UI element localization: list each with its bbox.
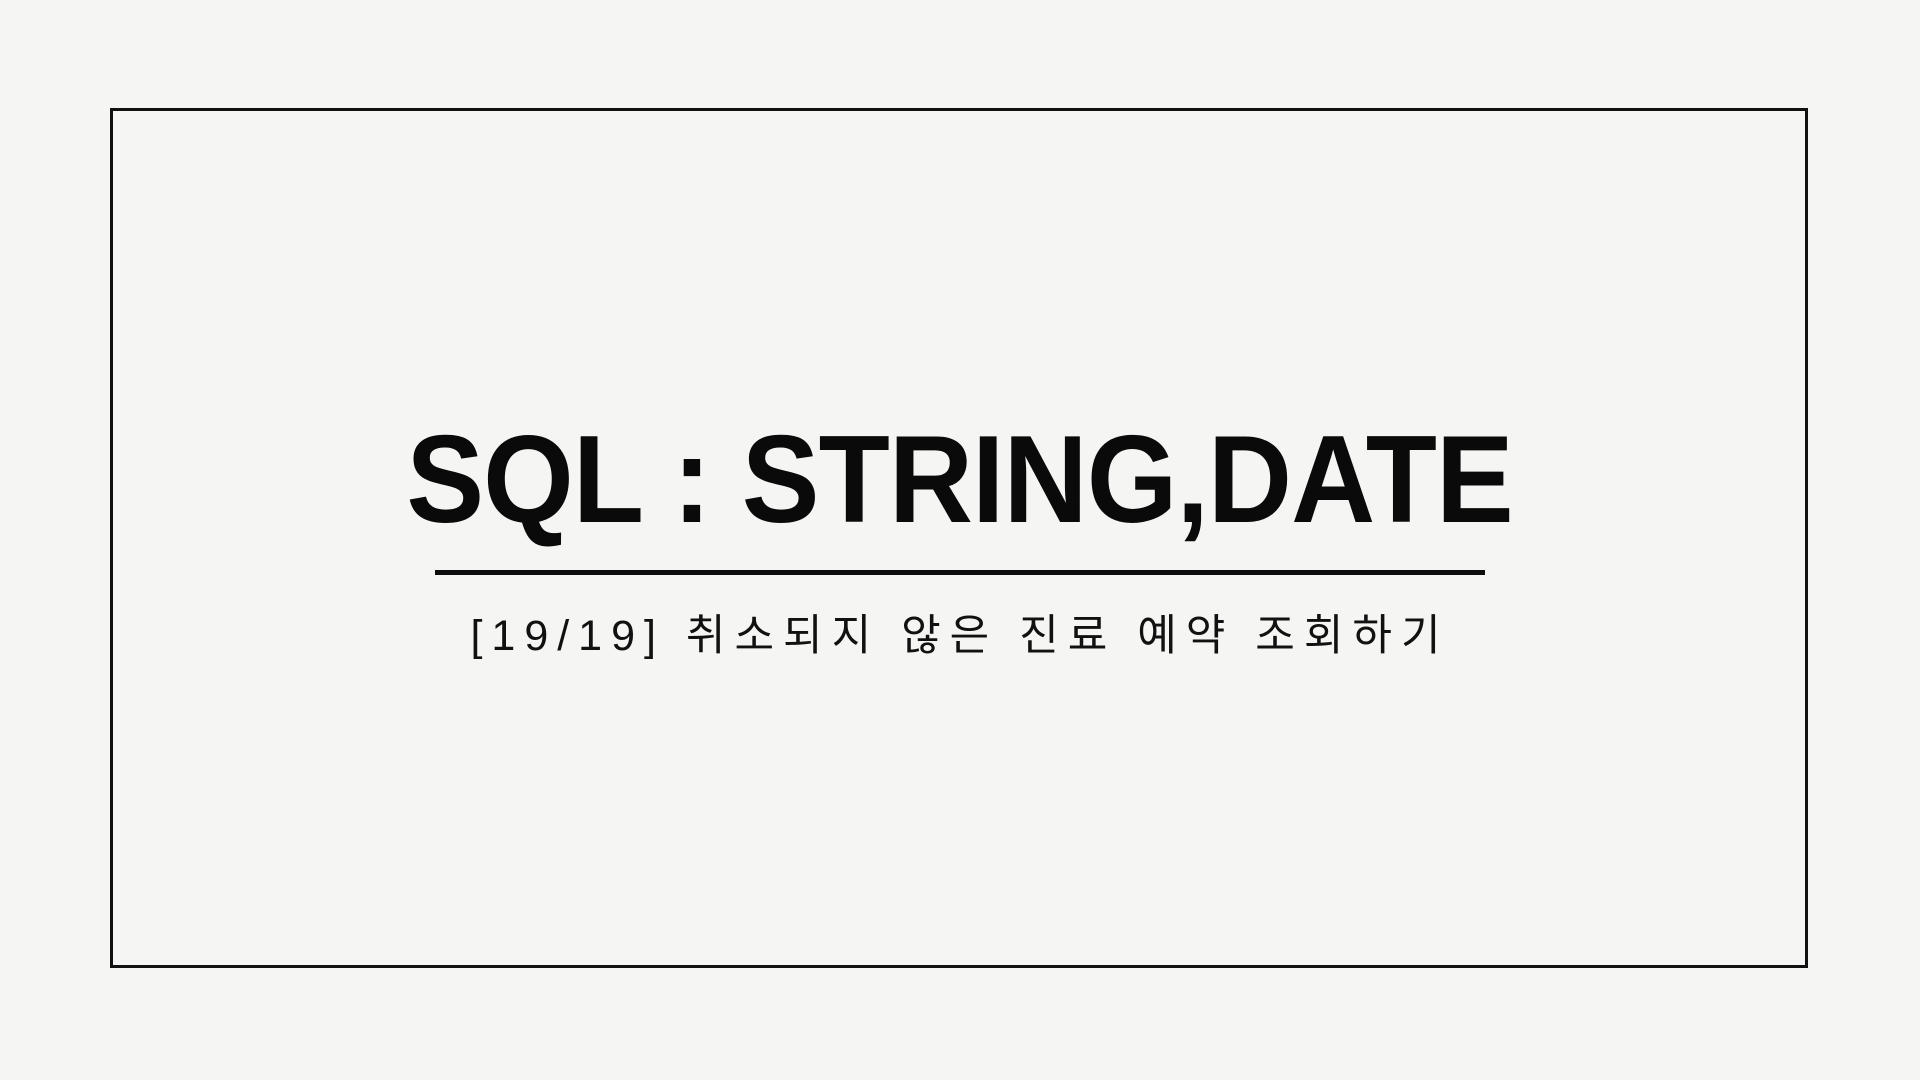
slide-canvas: SQL : STRING,DATE [19/19] 취소되지 않은 진료 예약 …	[0, 0, 1920, 1080]
slide-border-frame	[110, 108, 1808, 968]
